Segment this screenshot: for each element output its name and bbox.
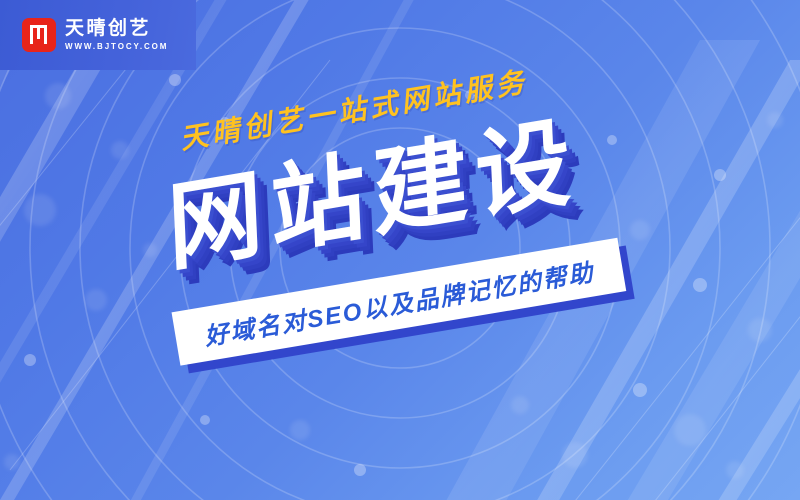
promo-banner: 天晴创艺 WWW.BJTOCY.COM 天晴创艺一站式网站服务 网站建设 好域名… [0,0,800,500]
headline-group: 天晴创艺一站式网站服务 网站建设 好域名对SEO以及品牌记忆的帮助 [0,0,800,500]
